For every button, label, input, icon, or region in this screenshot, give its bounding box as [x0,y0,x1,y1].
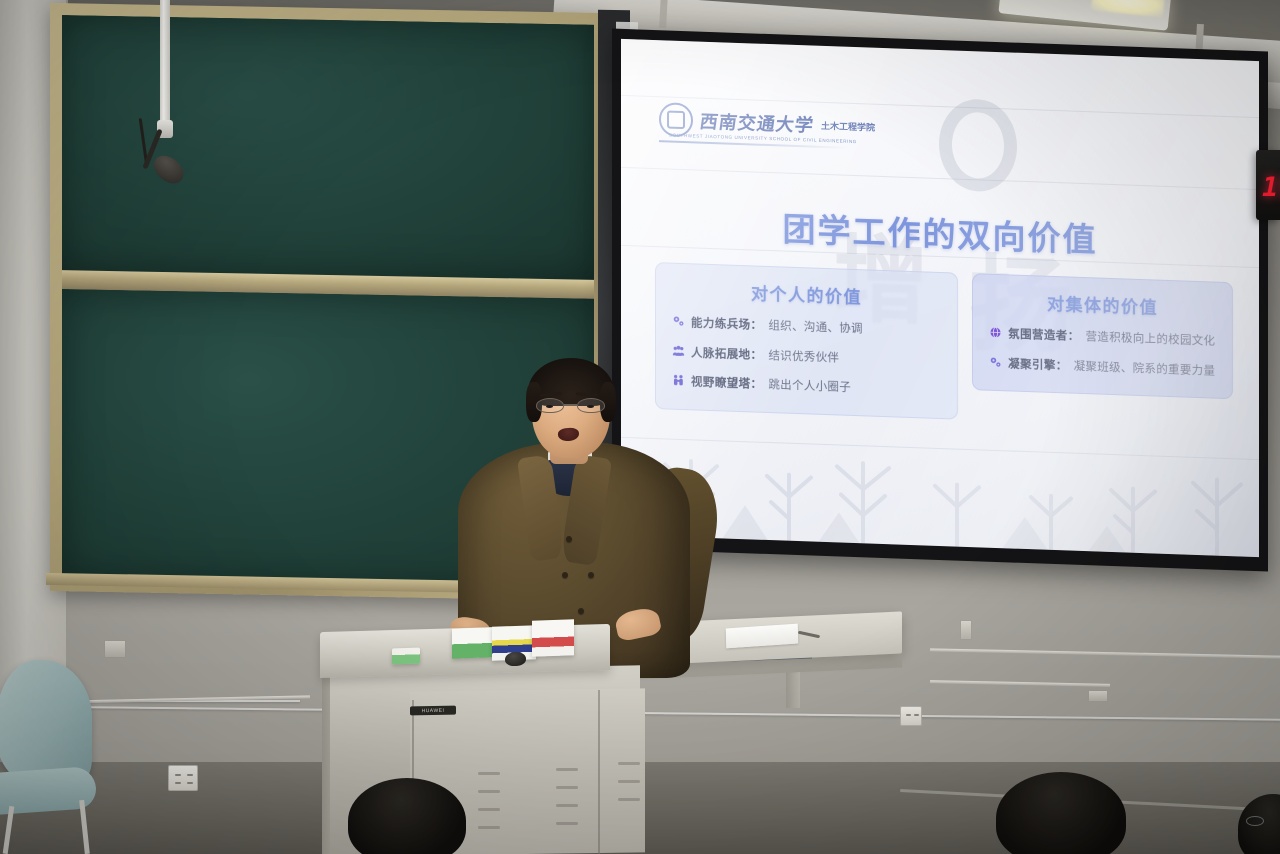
classroom-photo: 增 扬 西南交通大学 土木工程学院 SOUTHWEST JIAOTONG UNI… [0,0,1280,854]
coat-button [566,536,572,542]
power-outlet[interactable] [168,765,198,791]
globe-icon [989,326,1002,339]
presenter-eye [587,405,594,408]
gear-flower-icon [989,355,1002,368]
microphone-pole [160,0,170,124]
chalk-box-red[interactable] [532,619,574,656]
audience-head [348,778,466,854]
coat-button [578,608,584,614]
audience-head [996,772,1126,854]
bullet-key: 凝聚引擎： [1008,357,1068,375]
bullet-item: 人脉拓展地： 结识优秀伙伴 [672,342,945,370]
bullet-item: 视野瞭望塔： 跳出个人小圈子 [672,372,945,400]
bullet-value: 凝聚班级、院系的重要力量 [1074,359,1216,379]
cabinet-vent [618,798,640,801]
chalk-box-green[interactable] [452,627,492,658]
slide-decoration-branches [621,425,1259,557]
bullet-key: 氛围营造者： [1008,327,1079,345]
eyeglass-bridge [564,404,577,406]
podium-brand-label: HUAWEI [410,706,456,716]
bullet-key: 能力练兵场： [691,316,762,334]
bullet-value: 结识优秀伙伴 [768,349,839,367]
cabinet-vent [556,768,578,771]
panel-heading: 对集体的价值 [985,288,1220,321]
presenter-eye [546,405,553,408]
panel-collective-value: 对集体的价值 氛围营造者： 营造积极向上的校园文化 [972,273,1233,399]
wall-box [960,620,972,640]
slide-panels: 对个人的价值 能力练兵场： [655,262,1233,429]
bullet-item: 氛围营造者： 营造积极向上的校园文化 [989,324,1220,351]
gear-flower-icon [672,315,685,328]
slide-title: 团学工作的双向价值 [621,197,1259,267]
bullet-item: 凝聚引擎： 凝聚班级、院系的重要力量 [989,353,1220,380]
desk-leg [786,668,800,708]
cabinet-vent [556,804,578,807]
slide-content: 增 扬 西南交通大学 土木工程学院 SOUTHWEST JIAOTONG UNI… [621,39,1259,557]
bullet-value: 营造积极向上的校园文化 [1086,330,1216,350]
coat-button [588,572,594,578]
coat-button [562,572,568,578]
cabinet-vent [618,780,640,783]
power-outlet[interactable] [900,706,922,726]
audience-eyeglasses-icon [1246,816,1264,826]
bullet-item: 能力练兵场： 组织、沟通、协调 [672,313,945,341]
slide-surface: 增 扬 西南交通大学 土木工程学院 SOUTHWEST JIAOTONG UNI… [621,39,1259,557]
wall-box [104,640,126,658]
podium-brand-text: HUAWEI [422,707,445,713]
podium-door-seam [598,690,600,854]
cabinet-vent [478,772,500,775]
cabinet-vent [478,790,500,793]
cabinet-vent [478,808,500,811]
decorative-ring [939,98,1017,193]
chalk-eraser[interactable] [392,648,420,665]
chalkboard-pane-upper [62,15,594,281]
clock-display: 19 [1262,172,1280,203]
cabinet-vent [556,822,578,825]
university-name-cn: 西南交通大学 [698,108,816,138]
cabinet-vent [478,826,500,829]
people-group-icon [672,344,685,357]
school-name-cn: 土木工程学院 [821,118,875,133]
bullet-value: 跳出个人小圈子 [768,378,851,396]
cabinet-vent [556,786,578,789]
panel-heading: 对个人的价值 [668,277,945,312]
cabinet-vent [618,762,640,765]
bullet-value: 组织、沟通、协调 [768,319,862,338]
wall-box [1088,690,1108,702]
